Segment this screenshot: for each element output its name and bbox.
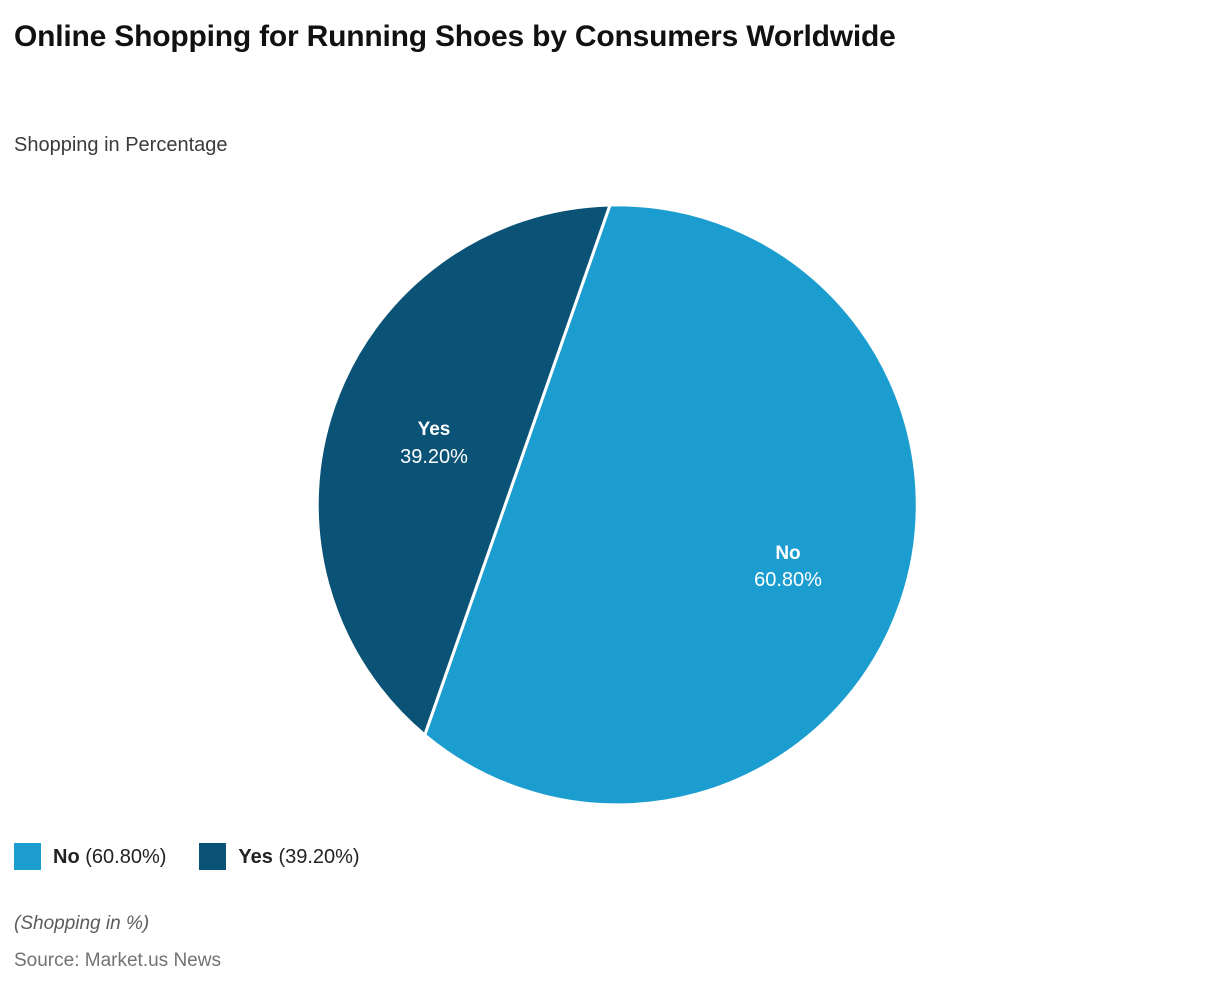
legend-item-yes[interactable]: Yes (39.20%) — [199, 843, 359, 870]
pie-slice-no-label-name: No — [775, 543, 800, 564]
chart-source: Source: Market.us News — [14, 950, 221, 972]
legend-swatch-no-icon — [14, 843, 41, 870]
legend-label-yes: Yes (39.20%) — [238, 847, 359, 867]
legend-label-yes-name: Yes — [238, 846, 272, 868]
pie-chart-figure: Online Shopping for Running Shoes by Con… — [0, 0, 1220, 986]
page-title: Online Shopping for Running Shoes by Con… — [14, 16, 1024, 57]
chart-annotation: (Shopping in %) — [14, 913, 149, 935]
legend-swatch-yes-icon — [199, 843, 226, 870]
pie-slice-yes-label-value: 39.20% — [400, 446, 468, 468]
legend-label-no-value: (60.80%) — [85, 846, 166, 868]
legend-label-yes-value: (39.20%) — [278, 846, 359, 868]
plot-area: No 60.80% Yes 39.20% — [0, 170, 1220, 820]
pie-slice-yes-label-name: Yes — [418, 419, 451, 440]
chart-subtitle: Shopping in Percentage — [14, 133, 228, 157]
pie-svg: No 60.80% Yes 39.20% — [0, 170, 1220, 820]
legend-label-no-name: No — [53, 846, 80, 868]
legend-label-no: No (60.80%) — [53, 847, 166, 867]
chart-legend: No (60.80%) Yes (39.20%) — [14, 843, 393, 870]
pie-slice-no-label-value: 60.80% — [754, 569, 822, 591]
legend-item-no[interactable]: No (60.80%) — [14, 843, 166, 870]
